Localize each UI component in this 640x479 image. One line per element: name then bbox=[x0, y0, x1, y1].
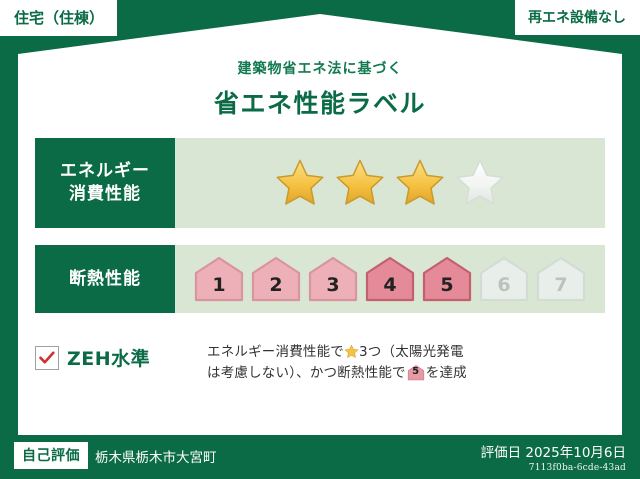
evaluation-type-badge: 自己評価 bbox=[14, 442, 88, 469]
label-footer: 自己評価 栃木県栃木市大宮町 評価日 2025年10月6日 7113f0ba-6… bbox=[0, 435, 640, 479]
star-icon-filled bbox=[393, 157, 447, 209]
insulation-level-badge-5: 5 bbox=[421, 255, 473, 303]
star-icon bbox=[344, 344, 359, 359]
zeh-checkbox[interactable] bbox=[35, 346, 59, 370]
insulation-level-value: 1 bbox=[212, 274, 225, 303]
zeh-label: ZEH水準 bbox=[67, 344, 150, 371]
desc-line1-part-b: 3つ（太陽光発電 bbox=[359, 344, 464, 360]
insulation-level-badge-6: 6 bbox=[478, 255, 530, 303]
renewable-equipment-tag: 再エネ設備なし bbox=[515, 0, 640, 35]
evaluation-date: 評価日 2025年10月6日 bbox=[481, 441, 626, 461]
title-subtitle: 建築物省エネ法に基づく bbox=[0, 58, 640, 78]
footer-right-group: 評価日 2025年10月6日 7113f0ba-6cde-43ad bbox=[481, 441, 626, 473]
insulation-label-line1: 断熱性能 bbox=[69, 268, 141, 291]
desc-line1-part-a: エネルギー消費性能で bbox=[207, 344, 344, 360]
desc-line2-part-a: は考慮しない）、かつ断熱性能で bbox=[207, 365, 406, 381]
star-icon-filled bbox=[333, 157, 387, 209]
desc-line2-part-b: を達成 bbox=[426, 365, 467, 381]
insulation-badges: 1234567 bbox=[193, 255, 587, 303]
property-address: 栃木県栃木市大宮町 bbox=[95, 446, 217, 466]
energy-performance-label: 住宅（住棟） 再エネ設備なし 建築物省エネ法に基づく 省エネ性能ラベル エネルギ… bbox=[0, 0, 640, 479]
energy-performance-row: エネルギー 消費性能 bbox=[35, 138, 605, 228]
insulation-level-badge-3: 3 bbox=[307, 255, 359, 303]
star-icon-filled bbox=[273, 157, 327, 209]
energy-label-line1: エネルギー bbox=[60, 160, 150, 183]
insulation-level-badge-4: 4 bbox=[364, 255, 416, 303]
check-icon bbox=[39, 351, 55, 365]
building-type-tag: 住宅（住棟） bbox=[0, 0, 117, 36]
insulation-level-badge-7: 7 bbox=[535, 255, 587, 303]
insulation-level-value: 7 bbox=[554, 274, 567, 303]
title-block: 建築物省エネ法に基づく 省エネ性能ラベル bbox=[0, 58, 640, 120]
insulation-level-inline-badge: 5 bbox=[406, 364, 426, 381]
insulation-level-value: 6 bbox=[497, 274, 510, 303]
zeh-standard-group: ZEH水準 bbox=[35, 340, 207, 371]
label-uuid: 7113f0ba-6cde-43ad bbox=[481, 463, 626, 473]
page-title: 省エネ性能ラベル bbox=[0, 84, 640, 120]
insulation-level-scale: 1234567 bbox=[175, 245, 605, 313]
insulation-level-badge-1: 1 bbox=[193, 255, 245, 303]
insulation-performance-label: 断熱性能 bbox=[35, 245, 175, 313]
insulation-level-value: 4 bbox=[383, 274, 396, 303]
star-icon-empty bbox=[453, 157, 507, 209]
insulation-level-value: 3 bbox=[326, 274, 339, 303]
insulation-level-badge-2: 2 bbox=[250, 255, 302, 303]
insulation-level-value: 2 bbox=[269, 274, 282, 303]
insulation-level-value: 5 bbox=[440, 274, 453, 303]
zeh-description: エネルギー消費性能で3つ（太陽光発電 は考慮しない）、かつ断熱性能で5を達成 bbox=[207, 340, 467, 384]
energy-performance-label: エネルギー 消費性能 bbox=[35, 138, 175, 228]
insulation-performance-row: 断熱性能 1234567 bbox=[35, 245, 605, 313]
zeh-section: ZEH水準 エネルギー消費性能で3つ（太陽光発電 は考慮しない）、かつ断熱性能で… bbox=[35, 340, 605, 384]
inline-badge-value: 5 bbox=[406, 364, 426, 381]
footer-left-group: 自己評価 栃木県栃木市大宮町 bbox=[14, 442, 217, 469]
star-rating bbox=[175, 138, 605, 228]
energy-label-line2: 消費性能 bbox=[69, 183, 141, 206]
